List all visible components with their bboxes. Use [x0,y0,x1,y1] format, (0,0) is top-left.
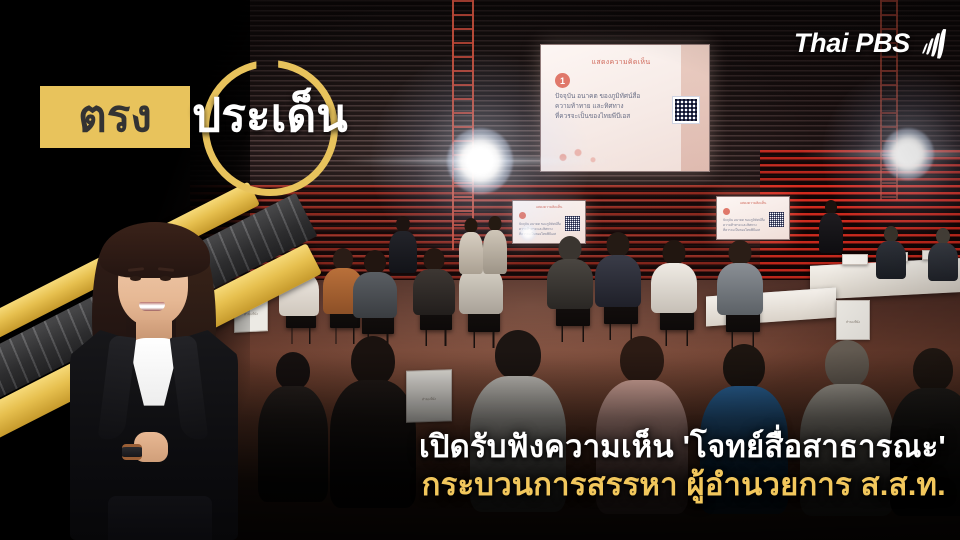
person-body [928,243,958,281]
audience-member [412,248,456,310]
headline-line-1: เปิดรับฟังความเห็น 'โจทย์สื่อสาธารณะ' [250,429,946,466]
lamp-core [520,225,536,241]
person-head [825,200,837,214]
placard-text: สำรองที่นั่ง [837,320,869,325]
stage-light-main [447,128,513,194]
slide-title: แสดงความคิดเห็น [541,57,701,68]
program-logo-part2: ประเด็น [192,92,348,138]
person-head [884,226,898,242]
slide-body: ปัจจุบัน อนาคต ของภูมิทัศน์สื่อ ความท้าท… [723,218,767,232]
person-body [876,241,906,279]
lamp-core [882,128,934,180]
stage-presenter [388,216,418,272]
person-body [413,269,455,315]
headline-block: เปิดรับฟังความเห็น 'โจทย์สื่อสาธารณะ' กร… [250,429,946,504]
person-head [489,216,502,231]
reserved-seat-placard: สำรองที่นั่ง [836,300,870,340]
slide-number-badge [723,208,730,215]
person-head [396,216,410,232]
anchor-wristwatch [122,444,142,460]
swoosh-feather-icon [916,29,942,59]
lamp-streak [799,151,960,157]
person-body [717,263,763,315]
stage-light-small [520,225,536,241]
panelist [928,228,958,278]
stage-crew [818,200,844,252]
anchor-eye [160,276,171,281]
person-head [607,232,630,257]
person-head [936,228,950,244]
person-head [364,250,386,274]
program-logo: ตรง ประเด็น [34,52,334,202]
person-head [465,218,478,233]
audience-member [594,232,642,302]
person-body [819,213,843,253]
person-body [547,259,593,309]
headline-line-2: กระบวนการสรรหา ผู้อำนวยการ ส.ส.ท. [250,467,946,504]
stage-participant [458,218,484,272]
slide-body-line: ที่ควรจะเป็นของไทยพีบีเอส [723,228,767,233]
audience-member [716,240,764,310]
person-body [353,272,397,318]
anchor-hair-front [100,222,210,278]
anchor-mouth [139,302,165,311]
audience-member [650,240,698,308]
qr-code-icon [769,212,784,227]
name-placard [842,254,868,265]
person-body [651,263,697,313]
qr-code-icon [673,97,699,123]
broadcast-frame: แสดงความคิดเห็น 1 ปัจจุบัน อนาคต ของภูมิ… [0,0,960,540]
anchor-trousers [108,496,212,540]
person-head [559,236,582,261]
slide-title: แสดงความคิดเห็น [717,201,789,206]
stage-light-right [882,128,934,180]
lamp-core [447,128,513,194]
person-head [729,240,752,265]
person-head [424,248,445,271]
person-body [483,230,507,274]
network-logo-text: Thai PBS [794,28,910,59]
projection-screen-right: แสดงความคิดเห็น ปัจจุบัน อนาคต ของภูมิทั… [716,196,790,240]
stage-participant [482,216,508,272]
audience-member [546,236,594,304]
anchor-eye [130,276,141,281]
person-body [389,231,417,273]
person-head [663,240,686,265]
panelist [876,226,906,276]
person-body [459,232,483,274]
news-anchor [48,218,258,540]
person-head [333,248,353,270]
person-body [595,255,641,307]
program-logo-part1: ตรง [40,86,190,148]
network-logo: Thai PBS [794,28,942,59]
